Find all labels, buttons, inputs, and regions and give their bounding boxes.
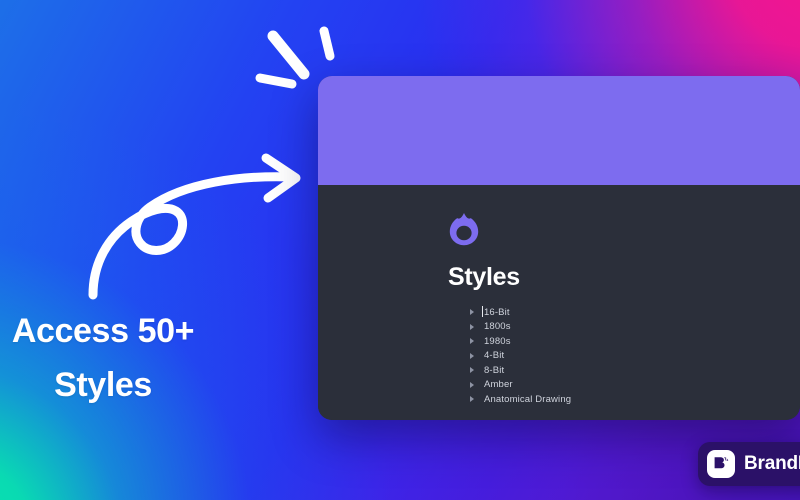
caret-right-icon: [470, 324, 474, 330]
list-item-label: 1980s: [484, 336, 511, 347]
flame-icon: [449, 212, 479, 246]
styles-list: 16-Bit 1800s 1980s 4-Bit 8-Bit: [470, 305, 571, 407]
list-item-label: 8-Bit: [484, 365, 504, 376]
brandbird-badge[interactable]: BrandBird: [698, 442, 800, 486]
list-item[interactable]: 1800s: [470, 320, 571, 335]
list-item[interactable]: 4-Bit: [470, 349, 571, 364]
promo-canvas: Access 50+ Styles Styles: [0, 0, 800, 500]
curved-arrow-icon: [80, 145, 330, 305]
list-item[interactable]: Anatomical Drawing: [470, 392, 571, 407]
list-item-label: 16-Bit: [484, 307, 510, 318]
card-content-panel: Styles 16-Bit 1800s 1980s 4-Bit: [318, 185, 800, 420]
card-header-band: [318, 76, 800, 185]
list-item-label: Anatomical Drawing: [484, 394, 571, 405]
headline-line-2: Styles: [0, 359, 218, 413]
caret-right-icon: [470, 396, 474, 402]
caret-right-icon: [470, 382, 474, 388]
list-item[interactable]: 16-Bit: [470, 305, 571, 320]
brandbird-logo-icon: [707, 450, 735, 478]
app-window-card: Styles 16-Bit 1800s 1980s 4-Bit: [318, 76, 800, 420]
list-item-label: 1800s: [484, 321, 511, 332]
list-item-label: Amber: [484, 379, 513, 390]
headline-line-1: Access 50+: [0, 305, 218, 359]
page-title: Access 50+ Styles: [0, 305, 218, 412]
list-item-label: 4-Bit: [484, 350, 504, 361]
caret-right-icon: [470, 309, 474, 315]
list-item[interactable]: Amber: [470, 378, 571, 393]
list-item[interactable]: 1980s: [470, 334, 571, 349]
brandbird-label: BrandBird: [744, 453, 800, 475]
panel-title: Styles: [448, 263, 520, 292]
list-item[interactable]: 8-Bit: [470, 363, 571, 378]
caret-right-icon: [470, 353, 474, 359]
caret-right-icon: [470, 367, 474, 373]
caret-right-icon: [470, 338, 474, 344]
